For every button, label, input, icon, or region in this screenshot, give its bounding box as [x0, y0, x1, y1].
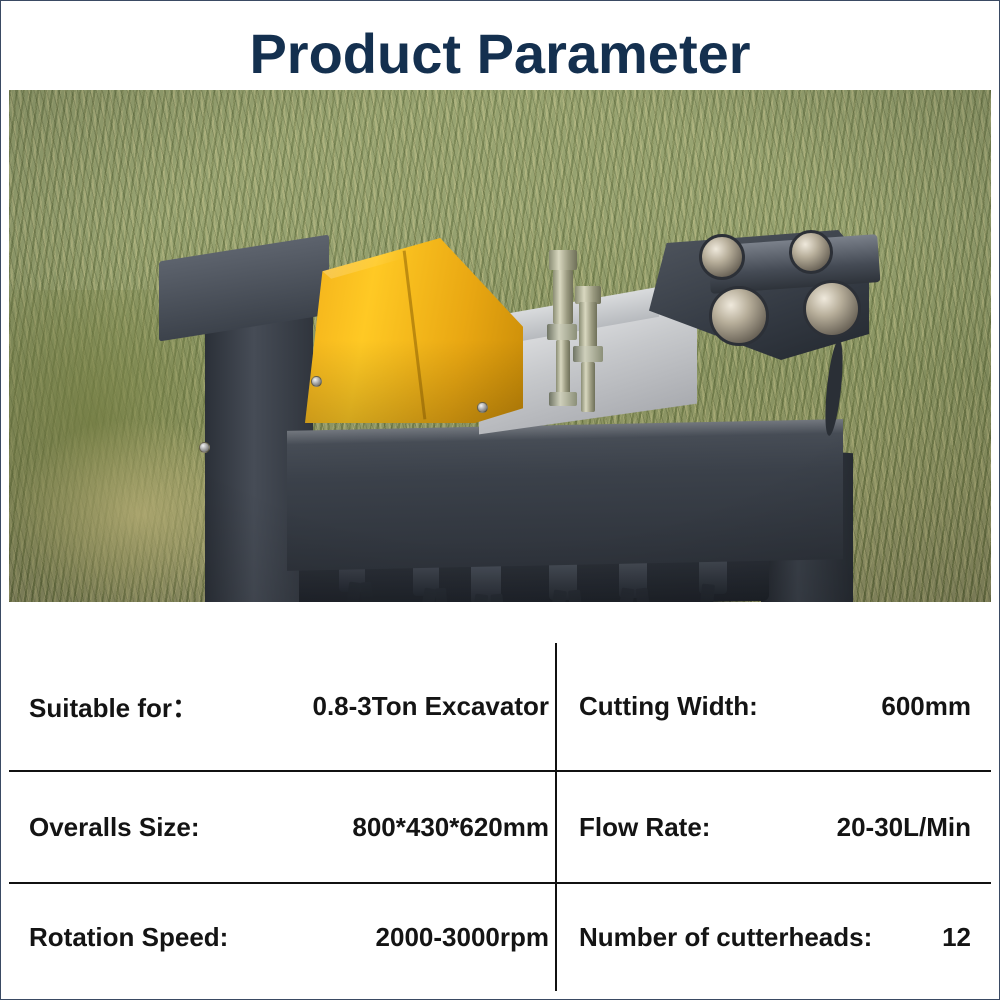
table-row: Rotation Speed: 2000-3000rpm Number of c… [9, 883, 991, 991]
spec-key-suitable-for: Suitable for： [29, 688, 198, 725]
spec-value-rotation-speed: 2000-3000rpm [376, 922, 555, 953]
page-title: Product Parameter [1, 1, 999, 90]
specifications-table: Suitable for： 0.8-3Ton Excavator Cutting… [9, 643, 991, 991]
spec-key-cutting-width: Cutting Width: [579, 691, 758, 722]
spec-value-cutting-width: 600mm [881, 691, 977, 722]
table-row: Suitable for： 0.8-3Ton Excavator Cutting… [9, 643, 991, 771]
table-row: Overalls Size: 800*430*620mm Flow Rate: … [9, 771, 991, 882]
spec-key-rotation-speed: Rotation Speed: [29, 922, 228, 953]
spec-key-overalls-size: Overalls Size: [29, 812, 200, 843]
product-parameter-page: Product Parameter [0, 0, 1000, 1000]
spec-value-flow-rate: 20-30L/Min [837, 812, 977, 843]
spec-key-flow-rate: Flow Rate: [579, 812, 710, 843]
spec-key-number-of-cutterheads: Number of cutterheads: [579, 922, 872, 953]
spec-value-overalls-size: 800*430*620mm [352, 812, 555, 843]
spec-value-suitable-for: 0.8-3Ton Excavator [312, 691, 555, 722]
photo-vignette [9, 90, 991, 602]
product-photo [9, 90, 991, 602]
spec-value-number-of-cutterheads: 12 [942, 922, 977, 953]
